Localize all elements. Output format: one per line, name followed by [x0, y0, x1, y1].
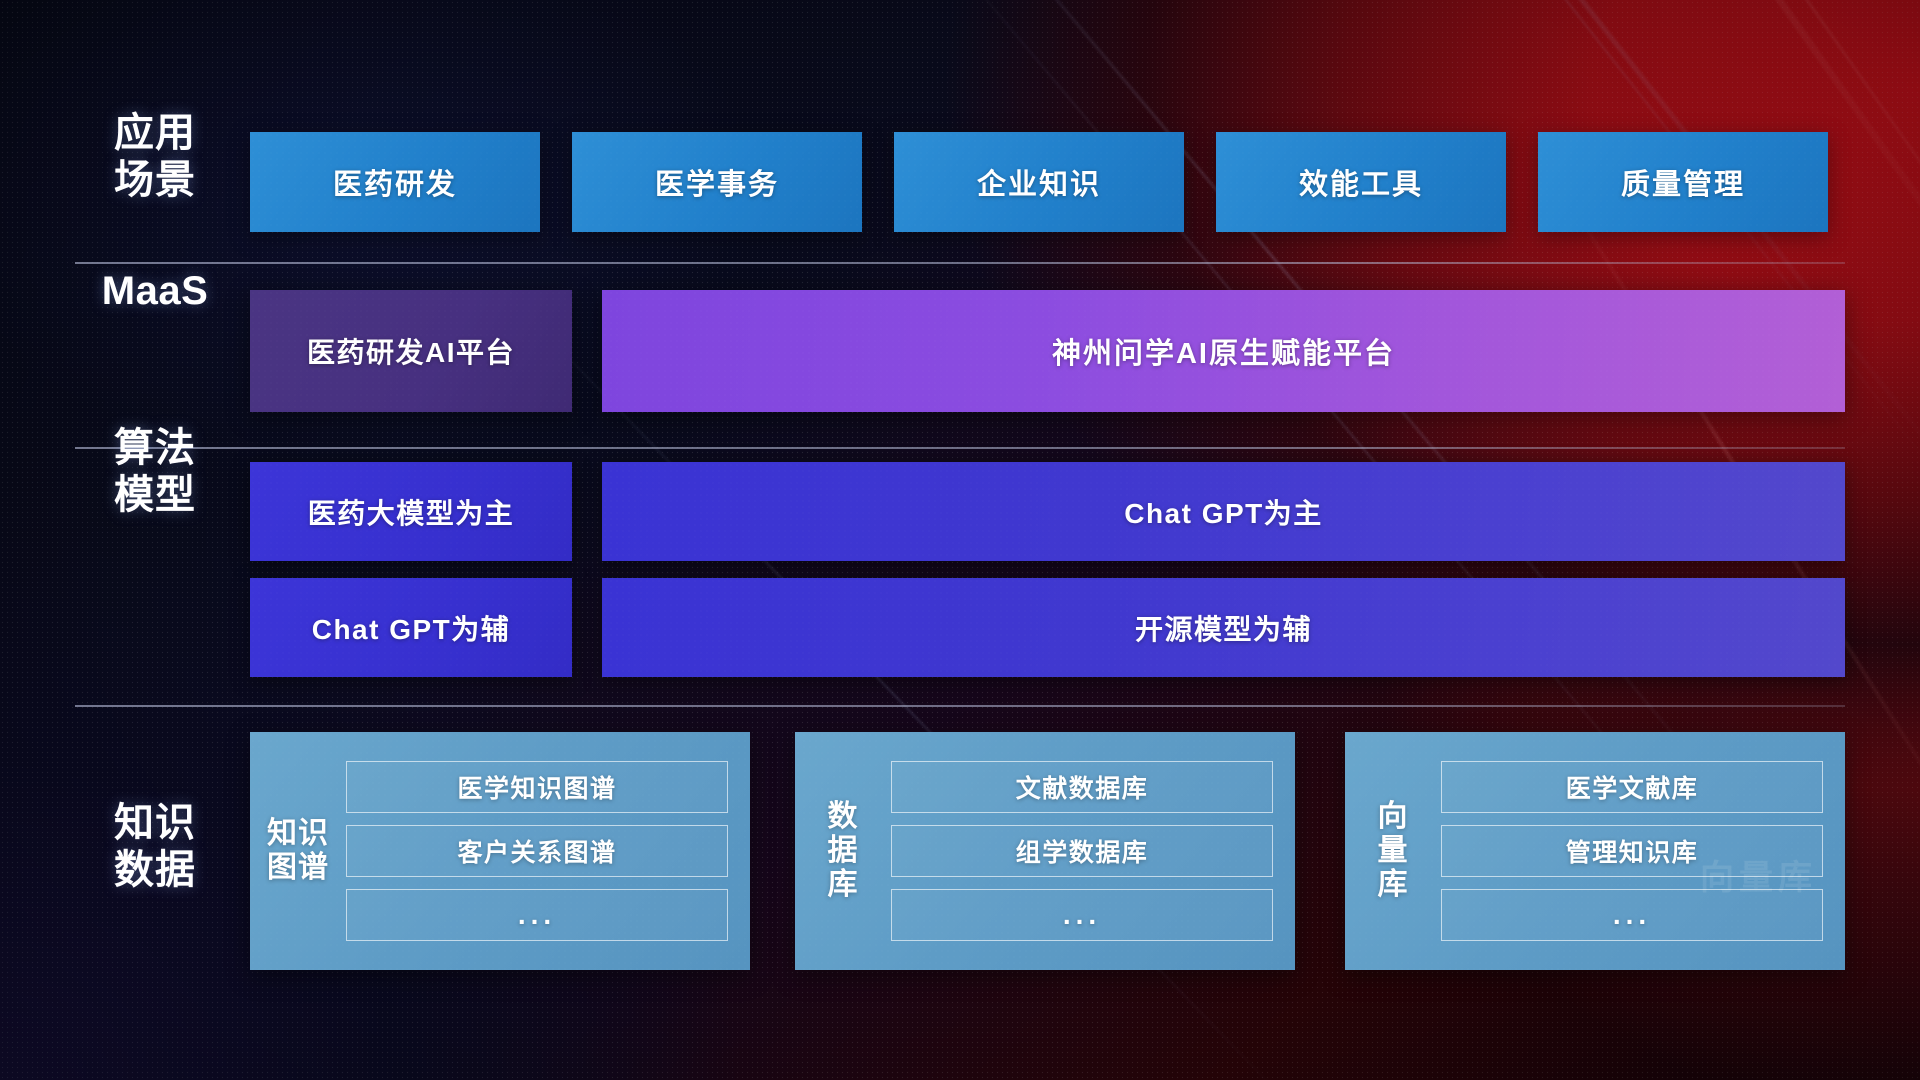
divider-algorithm-knowledge [75, 705, 1845, 707]
application-box-label: 效能工具 [1299, 161, 1423, 203]
row-label-application: 应用场景 [75, 110, 235, 204]
divider-maas-algorithm [75, 447, 1845, 449]
row-label-maas: MaaS [75, 268, 235, 315]
row-label-knowledge: 知识数据 [75, 800, 235, 894]
knowledge-item-list: 医学知识图谱客户关系图谱... [346, 761, 750, 941]
maas-left-label: 医药研发AI平台 [307, 331, 515, 371]
knowledge-item[interactable]: 组学数据库 [891, 825, 1273, 877]
maas-right-label: 神州问学AI原生赋能平台 [1052, 330, 1395, 372]
algorithm-box-primary-right[interactable]: Chat GPT为主 [602, 462, 1845, 561]
knowledge-item[interactable]: 文献数据库 [891, 761, 1273, 813]
knowledge-group-1: 知识图谱医学知识图谱客户关系图谱... [250, 732, 750, 970]
application-box-label: 企业知识 [977, 161, 1101, 203]
algorithm-box-secondary-right[interactable]: 开源模型为辅 [602, 578, 1845, 677]
maas-box-shenzhou-platform[interactable]: 神州问学AI原生赋能平台 [602, 290, 1845, 412]
knowledge-group-label: 数据库 [795, 800, 891, 903]
knowledge-group-2: 数据库文献数据库组学数据库... [795, 732, 1295, 970]
application-box-label: 医药研发 [333, 161, 457, 203]
knowledge-group-label: 向量库 [1345, 800, 1441, 903]
knowledge-item[interactable]: 医学知识图谱 [346, 761, 728, 813]
knowledge-item[interactable]: 客户关系图谱 [346, 825, 728, 877]
application-box-2[interactable]: 医学事务 [572, 132, 862, 232]
algorithm-box-primary-left[interactable]: 医药大模型为主 [250, 462, 572, 561]
knowledge-item-list: 医学文献库管理知识库... [1441, 761, 1845, 941]
knowledge-item[interactable]: ... [346, 889, 728, 941]
algorithm-label: 开源模型为辅 [1135, 608, 1312, 648]
knowledge-item-list: 文献数据库组学数据库... [891, 761, 1295, 941]
application-box-3[interactable]: 企业知识 [894, 132, 1184, 232]
application-box-5[interactable]: 质量管理 [1538, 132, 1828, 232]
maas-box-medical-ai-platform[interactable]: 医药研发AI平台 [250, 290, 572, 412]
knowledge-item[interactable]: 医学文献库 [1441, 761, 1823, 813]
knowledge-group-3: 向量库向量库医学文献库管理知识库... [1345, 732, 1845, 970]
knowledge-group-label: 知识图谱 [250, 817, 346, 885]
application-box-label: 医学事务 [655, 161, 779, 203]
application-box-4[interactable]: 效能工具 [1216, 132, 1506, 232]
knowledge-item[interactable]: 管理知识库 [1441, 825, 1823, 877]
knowledge-item[interactable]: ... [1441, 889, 1823, 941]
application-box-label: 质量管理 [1621, 161, 1745, 203]
application-box-1[interactable]: 医药研发 [250, 132, 540, 232]
knowledge-item[interactable]: ... [891, 889, 1273, 941]
architecture-diagram: 应用场景 MaaS 算法模型 知识数据 医药研发医学事务企业知识效能工具质量管理… [0, 0, 1920, 1080]
algorithm-label: Chat GPT为辅 [312, 608, 511, 648]
algorithm-label: 医药大模型为主 [308, 492, 515, 532]
algorithm-box-secondary-left[interactable]: Chat GPT为辅 [250, 578, 572, 677]
row-label-algorithm: 算法模型 [75, 425, 235, 519]
divider-application-maas [75, 262, 1845, 264]
algorithm-label: Chat GPT为主 [1124, 492, 1323, 532]
